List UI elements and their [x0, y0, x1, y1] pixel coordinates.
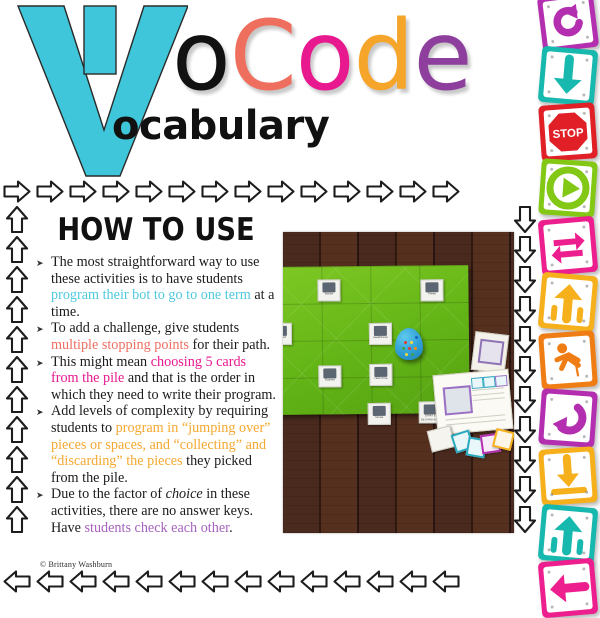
wordmark-char-2: o — [296, 0, 354, 112]
arrow-border-bottom — [2, 566, 540, 596]
vocabulary-card-label: Monitor — [319, 292, 340, 296]
vocabulary-picture-card: Flash Drive — [369, 364, 392, 386]
arrow-left-icon — [431, 568, 461, 595]
svg-text:STOP: STOP — [552, 127, 584, 141]
arrow-left-icon — [134, 568, 164, 595]
page-title: HOW TO USE — [50, 212, 261, 248]
vocabulary-card-label: Printer — [422, 292, 443, 296]
instruction-text-run: for their path. — [189, 337, 270, 353]
vocabulary-picture-card: Monitor — [317, 279, 340, 301]
arrow-right-icon — [167, 178, 197, 205]
arrow-right-icon — [68, 178, 98, 205]
arrow-up-icon — [2, 506, 32, 533]
arrow-up-icon — [2, 206, 32, 233]
wordmark: oCode — [172, 4, 472, 114]
coding-card-strip: STOP — [536, 0, 600, 600]
arrow-up-icon — [2, 416, 32, 443]
instruction-list: The most straightforward way to use thes… — [36, 254, 276, 536]
arrow-right-icon — [398, 178, 428, 205]
activity-photo: MonitorPrinterKeyboardHeadphonesScannerF… — [283, 232, 514, 533]
coding-robot — [395, 328, 423, 360]
arrow-left-icon — [200, 568, 230, 595]
arrow-right-icon — [332, 178, 362, 205]
arrow-up-icon — [2, 296, 32, 323]
instruction-text-run: To add a challenge, give students — [51, 320, 239, 336]
arrow-left-icon — [233, 568, 263, 595]
arrow-right-icon — [101, 178, 131, 205]
instruction-item: This might mean choosing 5 cards from th… — [36, 354, 276, 404]
vocabulary-picture-card: Printer — [420, 279, 443, 301]
how-to-use-panel: HOW TO USE The most straightforward way … — [36, 212, 276, 536]
instruction-item: To add a challenge, give students multip… — [36, 320, 276, 353]
arrow-right-icon — [431, 178, 461, 205]
wordmark-subtitle: ocabulary — [112, 103, 329, 149]
vocabulary-card-label: Flash Drive — [370, 377, 391, 381]
arrow-left-icon — [365, 568, 395, 595]
collect-card — [538, 446, 598, 506]
move-down-card — [538, 46, 599, 107]
instruction-text-run: . — [229, 520, 233, 536]
vocabulary-card-label: Scanner — [319, 378, 340, 382]
arrow-left-icon — [299, 568, 329, 595]
vocabulary-picture-card: Mouse — [368, 403, 391, 425]
instruction-text-run: The most straightforward way to use thes… — [51, 254, 259, 287]
wordmark-char-4: e — [413, 0, 471, 112]
instruction-item: The most straightforward way to use thes… — [36, 254, 276, 320]
arrow-left-icon — [101, 568, 131, 595]
arrow-up-icon — [2, 266, 32, 293]
photo-mini-card — [471, 331, 509, 374]
instruction-text-run: program their bot to go to one term — [51, 287, 251, 303]
copyright-notice: © Brittany Washburn — [40, 560, 112, 569]
poster-header: oCode ocabulary — [0, 0, 540, 172]
instruction-item: Due to the factor of choice in these act… — [36, 486, 276, 536]
move-up-card — [538, 272, 599, 333]
vocabulary-card-label: Mouse — [369, 416, 390, 420]
instruction-text-run: multiple stopping points — [51, 337, 189, 353]
arrow-border-left — [2, 206, 32, 568]
arrow-left-icon — [68, 568, 98, 595]
forward-card — [538, 504, 599, 565]
instruction-item: Add levels of complexity by requiring st… — [36, 403, 276, 486]
arrow-border-top — [2, 176, 540, 206]
arrow-up-icon — [2, 236, 32, 263]
arrow-left-icon — [167, 568, 197, 595]
arrow-left-icon — [398, 568, 428, 595]
repeat-card — [538, 216, 599, 277]
v-arrow-logo-icon — [12, 2, 188, 178]
poster-page: oCode ocabulary HOW TO USE The most stra… — [0, 0, 600, 600]
instruction-text-run: choice — [166, 486, 203, 502]
arrow-up-icon — [2, 446, 32, 473]
photo-worksheet — [433, 369, 514, 435]
wordmark-char-0: o — [172, 0, 230, 112]
arrow-right-icon — [365, 178, 395, 205]
arrow-right-icon — [233, 178, 263, 205]
instruction-text-run: This might mean — [51, 354, 151, 370]
discard-card — [538, 558, 599, 618]
arrow-right-icon — [35, 178, 65, 205]
jump-card — [538, 330, 598, 390]
wordmark-char-1: C — [230, 0, 296, 112]
play-card — [538, 158, 598, 218]
vocabulary-card-label: Headphones — [370, 336, 391, 340]
arrow-right-icon — [299, 178, 329, 205]
arrow-up-icon — [2, 356, 32, 383]
vocabulary-picture-card: Scanner — [318, 365, 341, 387]
vocabulary-picture-card: Headphones — [369, 323, 392, 345]
arrow-right-icon — [200, 178, 230, 205]
arrow-up-icon — [2, 476, 32, 503]
return-card — [538, 388, 598, 448]
arrow-up-icon — [2, 326, 32, 353]
vocabulary-card-label: Keyboard — [283, 336, 291, 340]
stop-card: STOP — [538, 102, 598, 162]
arrow-left-icon — [332, 568, 362, 595]
arrow-right-icon — [266, 178, 296, 205]
instruction-text-run: Due to the factor of — [51, 486, 166, 502]
arrow-left-icon — [35, 568, 65, 595]
arrow-left-icon — [2, 568, 32, 595]
arrow-left-icon — [266, 568, 296, 595]
wordmark-char-3: d — [354, 0, 414, 112]
arrow-up-icon — [2, 386, 32, 413]
arrow-right-icon — [134, 178, 164, 205]
arrow-right-icon — [2, 178, 32, 205]
instruction-text-run: students check each other — [84, 520, 229, 536]
vocabulary-picture-card: Keyboard — [283, 323, 292, 345]
